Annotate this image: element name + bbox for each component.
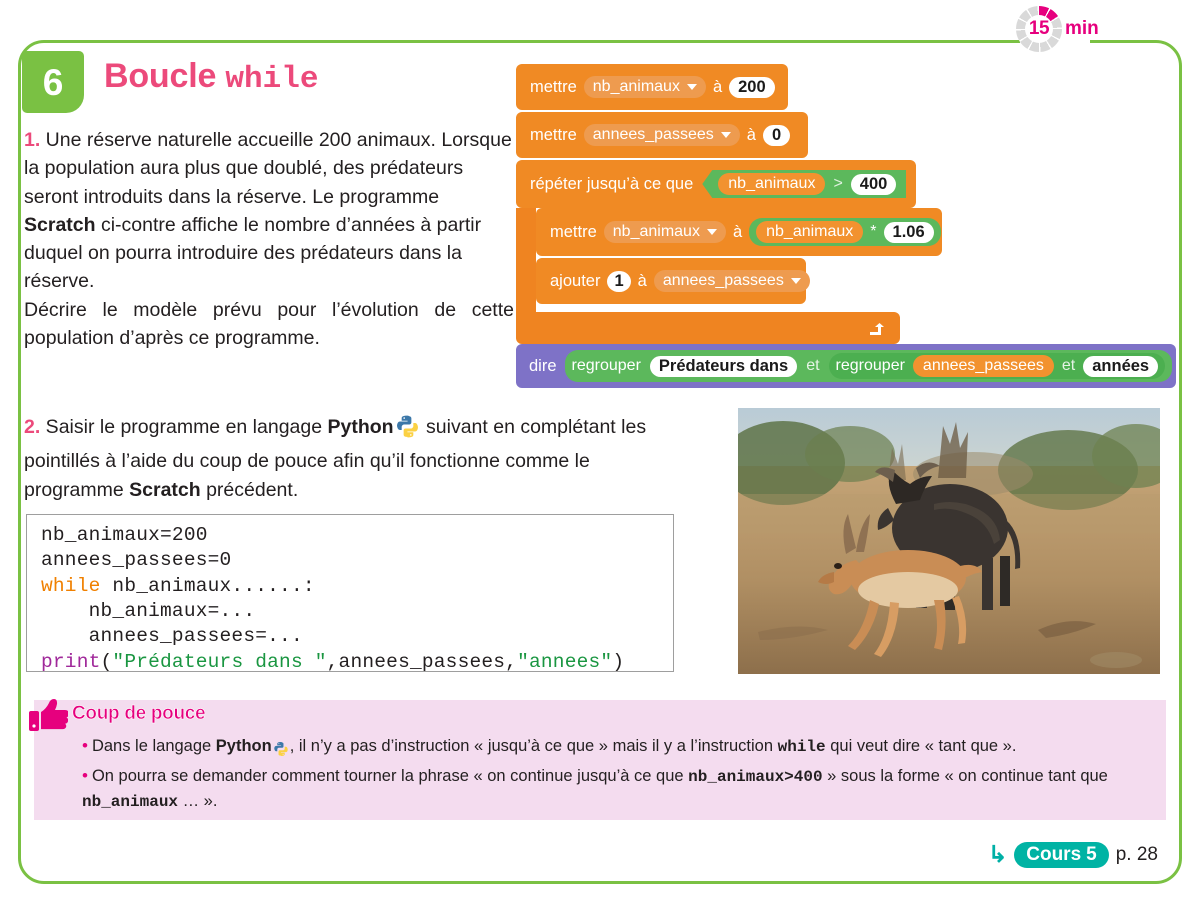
block6-verb: dire <box>529 357 557 376</box>
block6-text-2[interactable]: années <box>1083 356 1158 377</box>
code-line-6-mid: ,annees_passees, <box>327 651 517 673</box>
question-2-number: 2. <box>24 416 40 438</box>
tip2-c: … ». <box>178 792 217 810</box>
title-main: Boucle <box>104 57 225 95</box>
scratch-program: mettre nb_animaux à 200 mettre annees_pa… <box>516 64 1176 389</box>
block2-variable-dropdown[interactable]: annees_passees <box>584 124 740 146</box>
python-code-block: nb_animaux=200 annees_passees=0 while nb… <box>26 514 674 672</box>
block3-right-operand[interactable]: 400 <box>851 174 897 195</box>
python-word: Python <box>328 416 394 438</box>
tip2-mono-2: nb_animaux <box>82 793 178 811</box>
question-2: 2. Saisir le programme en langage Python… <box>24 413 684 504</box>
block1-prep: à <box>713 78 722 97</box>
block6-and-1: et <box>806 357 819 375</box>
code-string-1: "Prédateurs dans " <box>112 651 326 673</box>
tip1-b: , il n’y a pas d’instruction « jusqu’à c… <box>290 737 778 755</box>
cours-number: 5 <box>1086 844 1097 866</box>
scratch-c-block-bottom <box>516 312 900 344</box>
savanna-photo <box>738 408 1160 674</box>
block1-variable-dropdown[interactable]: nb_animaux <box>584 76 706 98</box>
question-1-paragraph-2: Décrire le modèle prévu pour l’évolution… <box>24 296 514 353</box>
block3-verb: répéter jusqu’à ce que <box>530 175 693 194</box>
question-1-number: 1. <box>24 129 40 151</box>
scratch-c-block-spine <box>516 208 536 324</box>
timer-dial-icon: 15 <box>1016 6 1062 52</box>
code-paren-close: ) <box>612 651 624 673</box>
block1-value-input[interactable]: 200 <box>729 77 775 98</box>
tip-title: Coup de pouce <box>72 703 205 725</box>
code-string-2: "annees" <box>517 651 612 673</box>
page-reference: p. 28 <box>1116 844 1158 866</box>
scratch-block-say[interactable]: dire regrouper Prédateurs dans et regrou… <box>516 344 1176 388</box>
block4-verb: mettre <box>550 223 597 242</box>
block5-value-input[interactable]: 1 <box>607 271 630 292</box>
question-1-text-a: Une réserve naturelle accueille 200 anim… <box>24 129 512 208</box>
block3-condition[interactable]: nb_animaux > 400 <box>702 170 906 198</box>
code-line-4: nb_animaux=... <box>41 600 255 622</box>
block6-join-outer[interactable]: regrouper Prédateurs dans et regrouper a… <box>565 350 1173 382</box>
tip2-mono-1: nb_animaux>400 <box>688 768 822 786</box>
timer-value: 15 <box>1016 6 1062 52</box>
code-function-print: print <box>41 651 101 673</box>
block4-variable-dropdown[interactable]: nb_animaux <box>604 221 726 243</box>
chevron-down-icon[interactable] <box>791 278 801 284</box>
code-paren-open: ( <box>101 651 113 673</box>
chevron-down-icon[interactable] <box>721 132 731 138</box>
page-title: Boucle while <box>104 57 318 97</box>
tip-bullet-1: •Dans le langage Python , il n’y a pas d… <box>82 733 1162 765</box>
block4-multiply-operator[interactable]: nb_animaux * 1.06 <box>749 218 941 246</box>
block2-verb: mettre <box>530 126 577 145</box>
block1-variable-label: nb_animaux <box>593 78 680 96</box>
question-2-text-c: précédent. <box>201 479 299 501</box>
duration-timer-badge: 15 min <box>1016 6 1099 52</box>
title-keyword: while <box>225 62 318 97</box>
block5-variable-label: annees_passees <box>663 272 784 290</box>
course-reference[interactable]: ↳ Cours 5 p. 28 <box>988 841 1158 868</box>
block5-prep: à <box>638 272 647 291</box>
code-line-2: annees_passees=0 <box>41 549 231 571</box>
tip1-c: qui veut dire « tant que ». <box>826 737 1017 755</box>
block6-variable[interactable]: annees_passees <box>913 355 1054 377</box>
exercise-number-badge: 6 <box>22 51 84 113</box>
thumbs-up-icon <box>28 697 68 733</box>
scratch-block-set-nb-animaux[interactable]: mettre nb_animaux à 200 <box>516 64 788 110</box>
code-line-5: annees_passees=... <box>41 625 303 647</box>
question-2-text-a: Saisir le programme en langage <box>40 416 327 438</box>
block4-operand-2[interactable]: 1.06 <box>884 222 934 243</box>
tip1-mono: while <box>778 738 826 756</box>
cours-label: Cours <box>1026 844 1081 866</box>
code-line-1: nb_animaux=200 <box>41 524 208 546</box>
tip1-python: Python <box>216 737 272 755</box>
block3-operator: > <box>833 175 842 193</box>
bullet-dot-icon: • <box>82 766 88 785</box>
timer-unit: min <box>1065 18 1099 40</box>
scratch-block-change-annees[interactable]: ajouter 1 à annees_passees <box>536 258 806 304</box>
block6-join2-label: regrouper <box>836 357 905 375</box>
block5-verb: ajouter <box>550 272 600 291</box>
block4-operator-symbol: * <box>870 223 876 241</box>
block2-variable-label: annees_passees <box>593 126 714 144</box>
block4-variable-label: nb_animaux <box>613 223 700 241</box>
block6-text-1[interactable]: Prédateurs dans <box>650 356 797 377</box>
scratch-word-1: Scratch <box>24 214 96 236</box>
block1-verb: mettre <box>530 78 577 97</box>
scratch-block-set-growth[interactable]: mettre nb_animaux à nb_animaux * 1.06 <box>536 208 942 256</box>
scratch-block-repeat-until[interactable]: répéter jusqu’à ce que nb_animaux > 400 <box>516 160 916 208</box>
code-keyword-while: while <box>41 575 101 597</box>
scratch-word-2: Scratch <box>129 479 201 501</box>
photo-illustration <box>738 408 1160 674</box>
scratch-block-set-annees-passees[interactable]: mettre annees_passees à 0 <box>516 112 808 158</box>
arrow-right-icon: ↳ <box>988 841 1007 868</box>
question-1: 1. Une réserve naturelle accueille 200 a… <box>24 126 514 352</box>
python-logo-icon <box>395 414 420 447</box>
bullet-dot-icon: • <box>82 736 88 755</box>
block2-prep: à <box>747 126 756 145</box>
block2-value-input[interactable]: 0 <box>763 125 790 146</box>
chevron-down-icon[interactable] <box>687 84 697 90</box>
block6-and-2: et <box>1062 357 1075 375</box>
tip1-a: Dans le langage <box>92 737 216 755</box>
block6-join1-label: regrouper <box>572 357 641 375</box>
tip2-b: » sous la forme « on continue tant que <box>823 767 1108 785</box>
python-logo-icon <box>273 740 289 765</box>
tip2-a: On pourra se demander comment tourner la… <box>92 767 688 785</box>
loop-arrow-icon <box>868 323 886 337</box>
tip-bullet-2: •On pourra se demander comment tourner l… <box>82 763 1160 814</box>
block6-join-inner[interactable]: regrouper annees_passees et années <box>829 353 1166 379</box>
block5-variable-dropdown[interactable]: annees_passees <box>654 270 810 292</box>
block4-prep: à <box>733 223 742 242</box>
chevron-down-icon[interactable] <box>707 229 717 235</box>
block3-left-operand[interactable]: nb_animaux <box>718 173 825 195</box>
code-line-3-rest: nb_animaux......: <box>101 575 315 597</box>
block4-operand-1[interactable]: nb_animaux <box>756 221 863 243</box>
cours-badge[interactable]: Cours 5 <box>1014 842 1108 868</box>
